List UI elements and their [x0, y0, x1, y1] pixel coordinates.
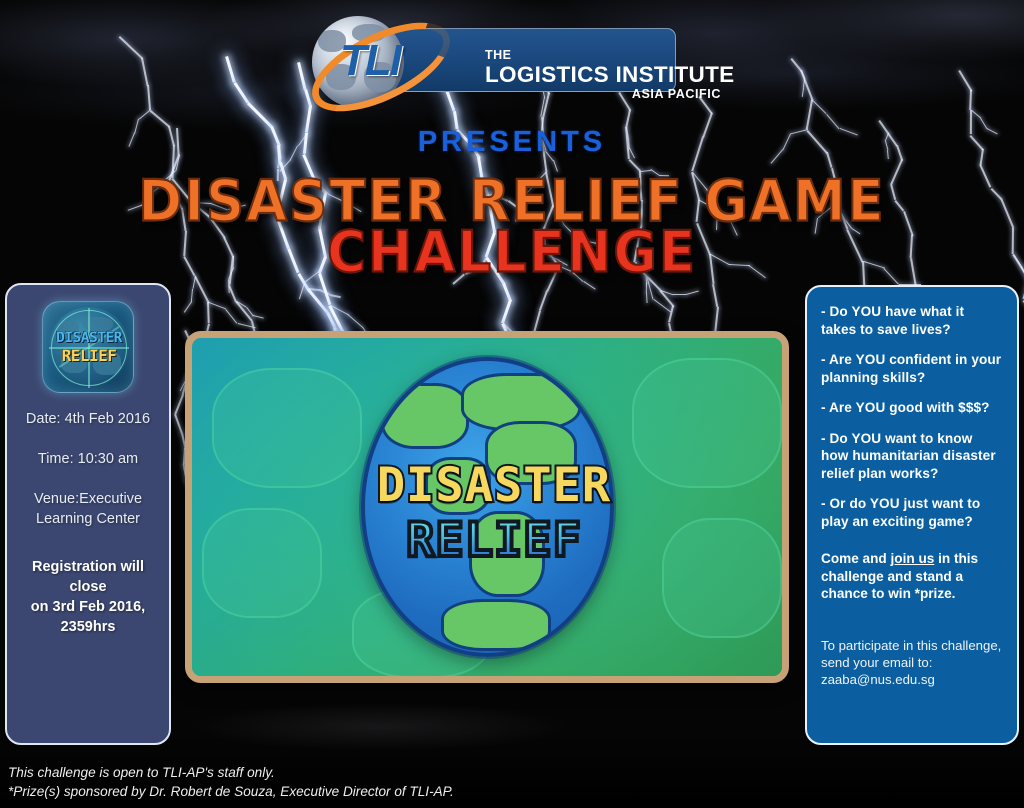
game-title-disaster: DISASTER: [192, 458, 789, 513]
cta-pre: Come and: [821, 551, 891, 566]
logo-line-region: ASIA PACIFIC: [485, 87, 725, 101]
question-item-1: - Are YOU confident in your planning ski…: [821, 351, 1003, 386]
event-date: Date: 4th Feb 2016: [17, 409, 159, 429]
game-title-relief: RELIEF: [192, 513, 789, 568]
question-list: - Do YOU have what it takes to save live…: [821, 303, 1003, 530]
call-to-action-panel: - Do YOU have what it takes to save live…: [805, 285, 1019, 745]
contact-line2: send your email to:: [821, 655, 932, 670]
tli-logo: THE LOGISTICS INSTITUTE ASIA PACIFIC TLI: [312, 16, 678, 104]
footer-line1: This challenge is open to TLI-AP's staff…: [8, 763, 728, 782]
cta-text: Come and join us in this challenge and s…: [821, 550, 1003, 603]
logo-line-the: THE: [485, 49, 725, 62]
presents-label: PRESENTS: [0, 126, 1024, 159]
app-icon-text-disaster: DISASTER: [43, 330, 134, 346]
event-venue-line2: Learning Center: [36, 511, 140, 527]
event-time: Time: 10:30 am: [17, 449, 159, 469]
poster-root: THE LOGISTICS INSTITUTE ASIA PACIFIC TLI…: [0, 0, 1024, 808]
question-item-2: - Are YOU good with $$$?: [821, 399, 1003, 417]
cta-post: *prize.: [911, 586, 956, 601]
disaster-relief-app-icon: DISASTER RELIEF: [42, 301, 134, 393]
lightning-segment: [673, 294, 686, 295]
game-title-relief-inner: RELIEF: [406, 513, 582, 568]
contact-block: To participate in this challenge, send y…: [821, 637, 1003, 688]
event-venue-line1: Venue:Executive: [34, 491, 142, 507]
lightning-segment: [646, 293, 648, 303]
ground-haze: [120, 692, 640, 762]
question-item-4: - Or do YOU just want to play an excitin…: [821, 495, 1003, 530]
game-artwork: DISASTER RELIEF: [185, 331, 789, 683]
logo-tli-mark: TLI: [340, 36, 400, 86]
question-item-0: - Do YOU have what it takes to save live…: [821, 303, 1003, 338]
app-icon-text-relief: RELIEF: [43, 346, 134, 365]
registration-line2: on 3rd Feb 2016,: [31, 599, 145, 615]
logo-wordmark: THE LOGISTICS INSTITUTE ASIA PACIFIC: [485, 49, 725, 101]
registration-line1: Registration will close: [32, 559, 144, 595]
footer-disclaimer: This challenge is open to TLI-AP's staff…: [8, 763, 728, 801]
event-details-panel: DISASTER RELIEF Date: 4th Feb 2016 Time:…: [5, 283, 171, 745]
join-us-link[interactable]: join us: [891, 551, 935, 566]
footer-line2: *Prize(s) sponsored by Dr. Robert de Sou…: [8, 782, 728, 801]
registration-line3: 2359hrs: [61, 619, 116, 635]
poster-title-line2: CHALLENGE: [0, 220, 1024, 286]
cta-win: win: [888, 586, 911, 601]
contact-line1: To participate in this challenge,: [821, 638, 1001, 653]
contact-email[interactable]: zaaba@nus.edu.sg: [821, 672, 935, 687]
logo-line-institute: LOGISTICS INSTITUTE: [485, 62, 725, 87]
event-venue: Venue:Executive Learning Center: [17, 489, 159, 529]
registration-deadline: Registration will close on 3rd Feb 2016,…: [17, 557, 159, 637]
question-item-3: - Do YOU want to know how humanitarian d…: [821, 430, 1003, 483]
